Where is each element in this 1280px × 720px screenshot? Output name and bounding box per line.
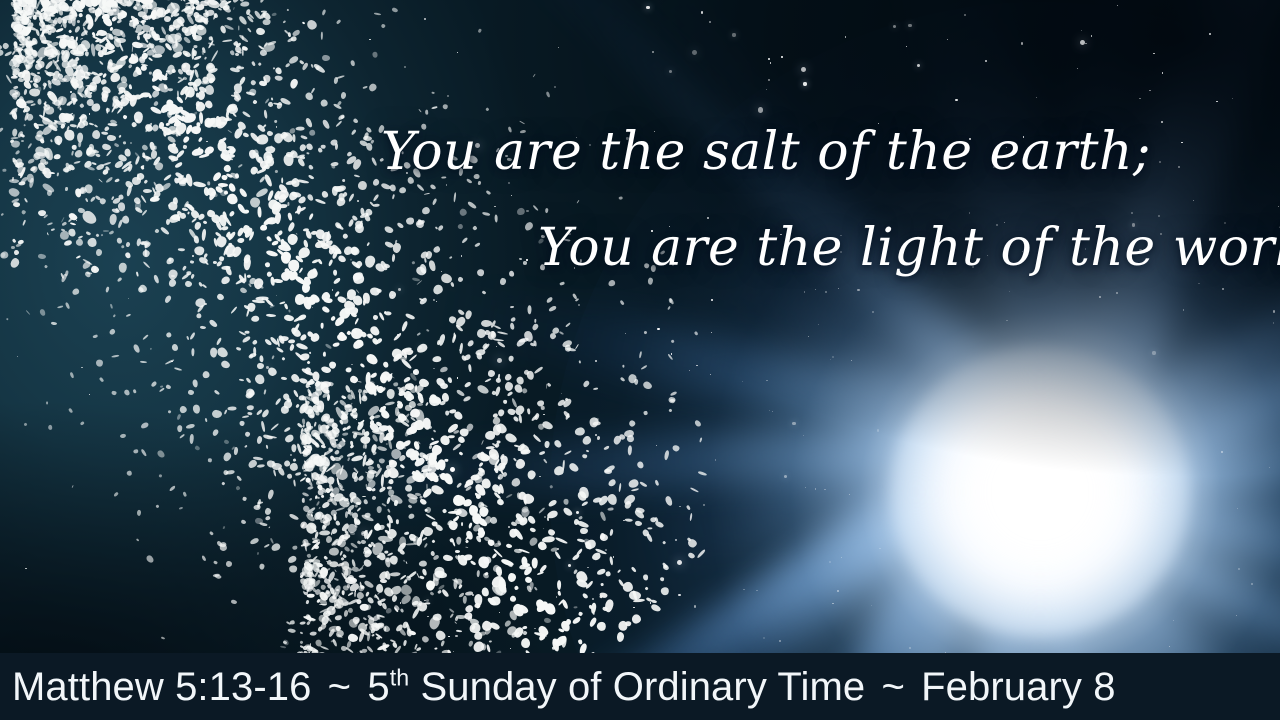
verse-line-1: You are the salt of the earth; bbox=[381, 122, 1151, 182]
occasion-label: Sunday of Ordinary Time bbox=[420, 665, 865, 709]
caption-separator-2: ~ bbox=[876, 665, 909, 709]
scripture-slide: You are the salt of the earth; You are t… bbox=[0, 0, 1280, 720]
verse-line-2: You are the light of the world. bbox=[538, 218, 1280, 278]
background-vignette bbox=[0, 0, 1280, 720]
ordinal-suffix: th bbox=[390, 664, 410, 690]
caption-text: Matthew 5:13-16 ~ 5th Sunday of Ordinary… bbox=[0, 665, 1116, 709]
caption-bar: Matthew 5:13-16 ~ 5th Sunday of Ordinary… bbox=[0, 653, 1280, 720]
scripture-reference: Matthew 5:13-16 bbox=[12, 665, 311, 709]
caption-separator-1: ~ bbox=[323, 665, 356, 709]
ordinal-number: 5 bbox=[367, 665, 389, 709]
caption-date: February 8 bbox=[921, 665, 1115, 709]
